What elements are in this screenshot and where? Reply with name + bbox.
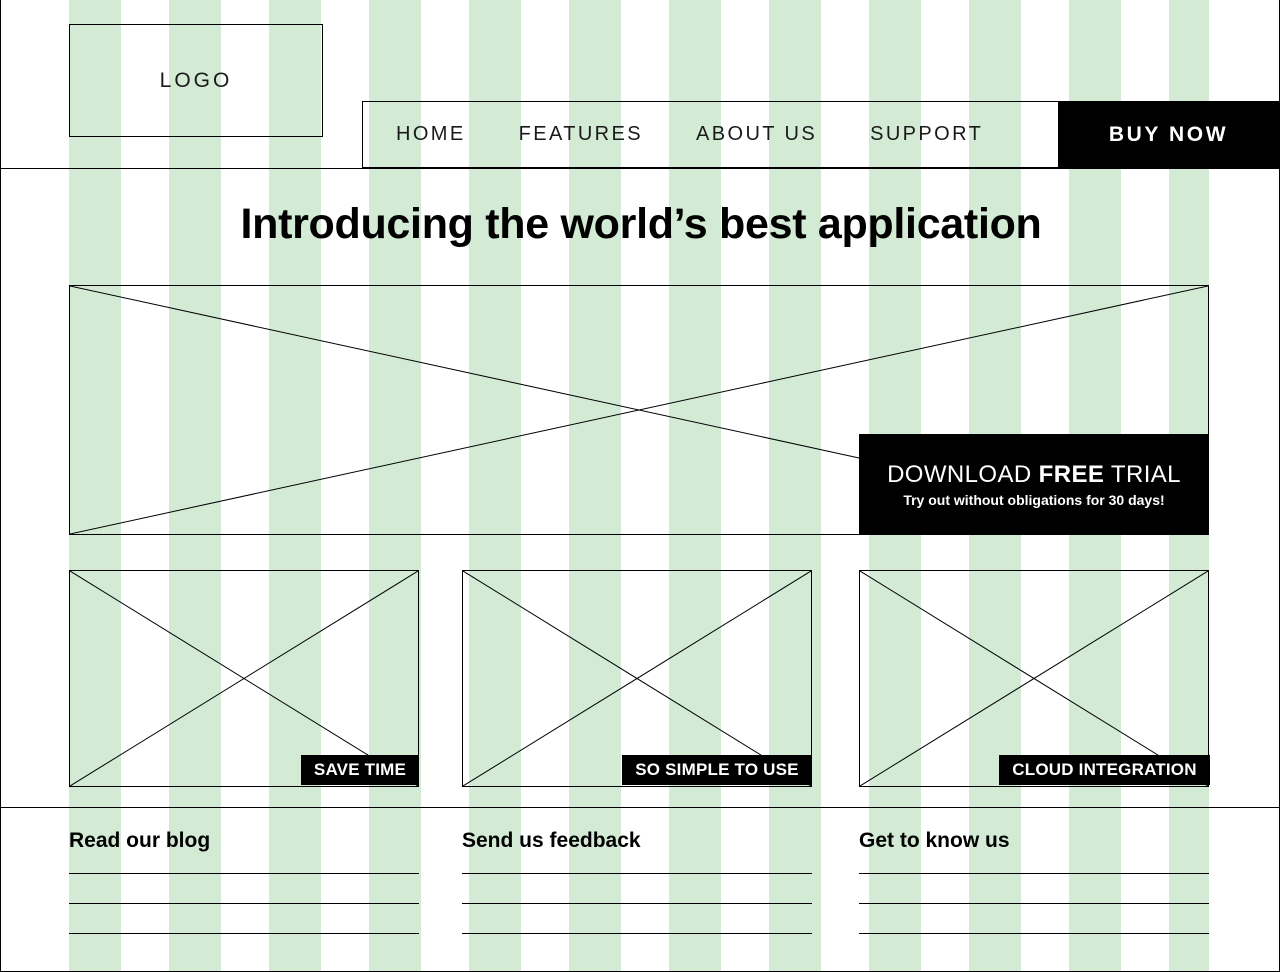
nav-item-home[interactable]: HOME [396,123,466,146]
image-placeholder-cross-icon [70,571,418,786]
footer-list-item[interactable] [462,873,812,874]
footer-list-item[interactable] [859,903,1209,904]
cta-title-before: DOWNLOAD [887,461,1039,488]
logo-label: LOGO [160,69,233,93]
image-placeholder-cross-icon [463,571,811,786]
footer-column-get-to-know-us: Get to know us [859,830,1209,934]
footer-title-get-to-know-us: Get to know us [859,830,1209,851]
cta-title-after: TRIAL [1104,461,1181,488]
download-free-trial-subtitle: Try out without obligations for 30 days! [903,492,1164,508]
footer-list-item[interactable] [859,933,1209,934]
footer-list-item[interactable] [69,903,419,904]
footer-title-read-our-blog: Read our blog [69,830,419,851]
footer-divider [1,807,1280,808]
header-divider [1,168,1280,169]
footer-column-read-our-blog: Read our blog [69,830,419,934]
footer-list-item[interactable] [69,873,419,874]
buy-now-button[interactable]: BUY NOW [1058,102,1279,167]
page-headline: Introducing the world’s best application [1,200,1280,249]
download-free-trial-banner[interactable]: DOWNLOAD FREE TRIAL Try out without obli… [859,434,1209,535]
logo-placeholder-box[interactable]: LOGO [69,24,323,137]
download-free-trial-title: DOWNLOAD FREE TRIAL [887,461,1181,489]
nav-link-group: HOME FEATURES ABOUT US SUPPORT [363,102,1058,167]
nav-item-support[interactable]: SUPPORT [870,123,983,146]
content-layer: LOGO HOME FEATURES ABOUT US SUPPORT BUY … [1,0,1280,972]
feature-label-cloud-integration[interactable]: CLOUD INTEGRATION [999,755,1210,785]
nav-item-about-us[interactable]: ABOUT US [696,123,817,146]
footer-list-item[interactable] [462,933,812,934]
nav-item-features[interactable]: FEATURES [519,123,643,146]
footer-title-send-us-feedback: Send us feedback [462,830,812,851]
image-placeholder-cross-icon [860,571,1208,786]
cta-title-emphasis: FREE [1039,461,1105,488]
feature-label-save-time[interactable]: SAVE TIME [301,755,419,785]
feature-label-so-simple-to-use[interactable]: SO SIMPLE TO USE [622,755,812,785]
footer-list-item[interactable] [859,873,1209,874]
main-navigation-bar: HOME FEATURES ABOUT US SUPPORT BUY NOW [362,101,1280,168]
wireframe-page: LOGO HOME FEATURES ABOUT US SUPPORT BUY … [0,0,1280,972]
footer-column-send-us-feedback: Send us feedback [462,830,812,934]
footer-list-item[interactable] [69,933,419,934]
footer-list-item[interactable] [462,903,812,904]
